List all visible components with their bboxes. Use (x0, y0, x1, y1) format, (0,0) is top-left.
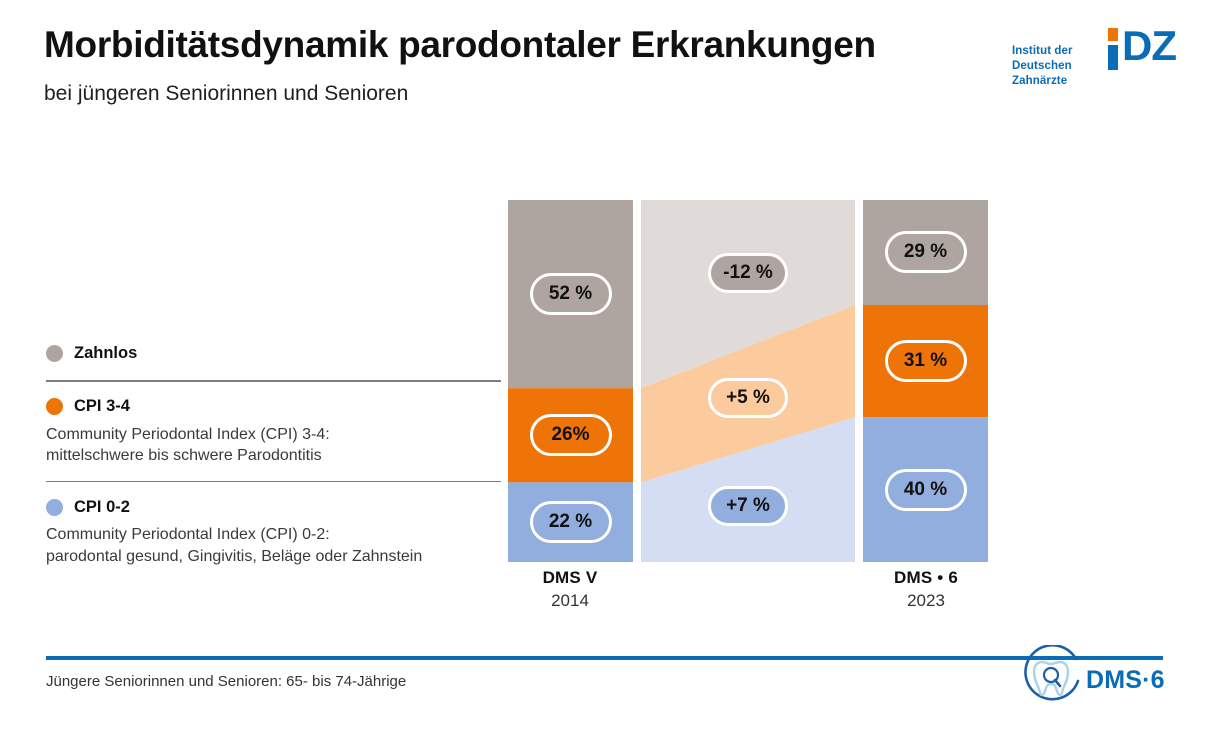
legend-color-dot-icon (46, 345, 63, 362)
legend-item-cpi02: CPI 0-2 Community Periodontal Index (CPI… (46, 494, 501, 567)
axis-label-dms5-year: 2014 (470, 591, 670, 611)
bar-value-label-cpi-3-4: 26% (530, 414, 612, 456)
page-title: Morbiditätsdynamik parodontaler Erkranku… (44, 24, 876, 66)
bar-value-label-zahnlos: 52 % (530, 273, 612, 315)
dms6-logo-text: DMS·6 (1086, 666, 1165, 695)
idz-logo-text: Institut der Deutschen Zahnärzte (1012, 44, 1112, 89)
axis-label-dms5: DMS V 2014 (470, 568, 670, 611)
legend-item-cpi34-description: Community Periodontal Index (CPI) 3-4: m… (46, 424, 501, 467)
idz-i-bar-icon (1108, 45, 1118, 70)
axis-label-dms6-name: DMS • 6 (826, 568, 1026, 588)
legend-item-cpi02-description: Community Periodontal Index (CPI) 0-2: p… (46, 524, 501, 567)
axis-label-dms6: DMS • 6 2023 (826, 568, 1026, 611)
legend-item-cpi34: CPI 3-4 Community Periodontal Index (CPI… (46, 394, 501, 467)
legend-item-zahnlos-label: Zahnlos (74, 344, 137, 363)
legend-color-dot-icon (46, 398, 63, 415)
axis-label-dms5-name: DMS V (470, 568, 670, 588)
idz-logo-line1: Institut der (1012, 44, 1112, 59)
legend-item-cpi02-head: CPI 0-2 (46, 494, 501, 520)
idz-dz-letters: DZ (1122, 23, 1176, 69)
legend-item-cpi34-label: CPI 3-4 (74, 397, 130, 416)
legend-divider-2 (46, 481, 501, 483)
idz-logo-line2: Deutschen Zahnärzte (1012, 59, 1112, 89)
chart-legend: Zahnlos CPI 3-4 Community Periodontal In… (46, 340, 501, 567)
flow-change-label-cpi-3-4: +5 % (708, 378, 788, 418)
legend-item-cpi34-head: CPI 3-4 (46, 394, 501, 420)
bar-value-label-cpi-0-2: 40 % (885, 469, 967, 511)
page-subtitle: bei jüngeren Seniorinnen und Senioren (44, 82, 408, 106)
legend-color-dot-icon (46, 499, 63, 516)
flow-change-label-zahnlos: -12 % (708, 253, 788, 293)
bar-value-label-zahnlos: 29 % (885, 231, 967, 273)
idz-logo: Institut der Deutschen Zahnärzte DZ (1012, 26, 1174, 84)
bar-value-label-cpi-3-4: 31 % (885, 340, 967, 382)
flow-band-zahnlos (641, 200, 855, 388)
legend-item-cpi02-label: CPI 0-2 (74, 498, 130, 517)
dms6-logo: DMS·6 (1018, 645, 1168, 721)
axis-label-dms6-year: 2023 (826, 591, 1026, 611)
flow-change-label-cpi-0-2: +7 % (708, 486, 788, 526)
idz-i-dot-icon (1108, 28, 1118, 41)
footer-note: Jüngere Seniorinnen und Senioren: 65- bi… (46, 673, 406, 690)
legend-divider-1 (46, 380, 501, 382)
footer-divider (46, 656, 1163, 660)
legend-item-zahnlos-head: Zahnlos (46, 340, 501, 366)
dms6-tooth-icon (1018, 645, 1084, 711)
bar-value-label-cpi-0-2: 22 % (530, 501, 612, 543)
legend-item-zahnlos: Zahnlos (46, 340, 501, 366)
